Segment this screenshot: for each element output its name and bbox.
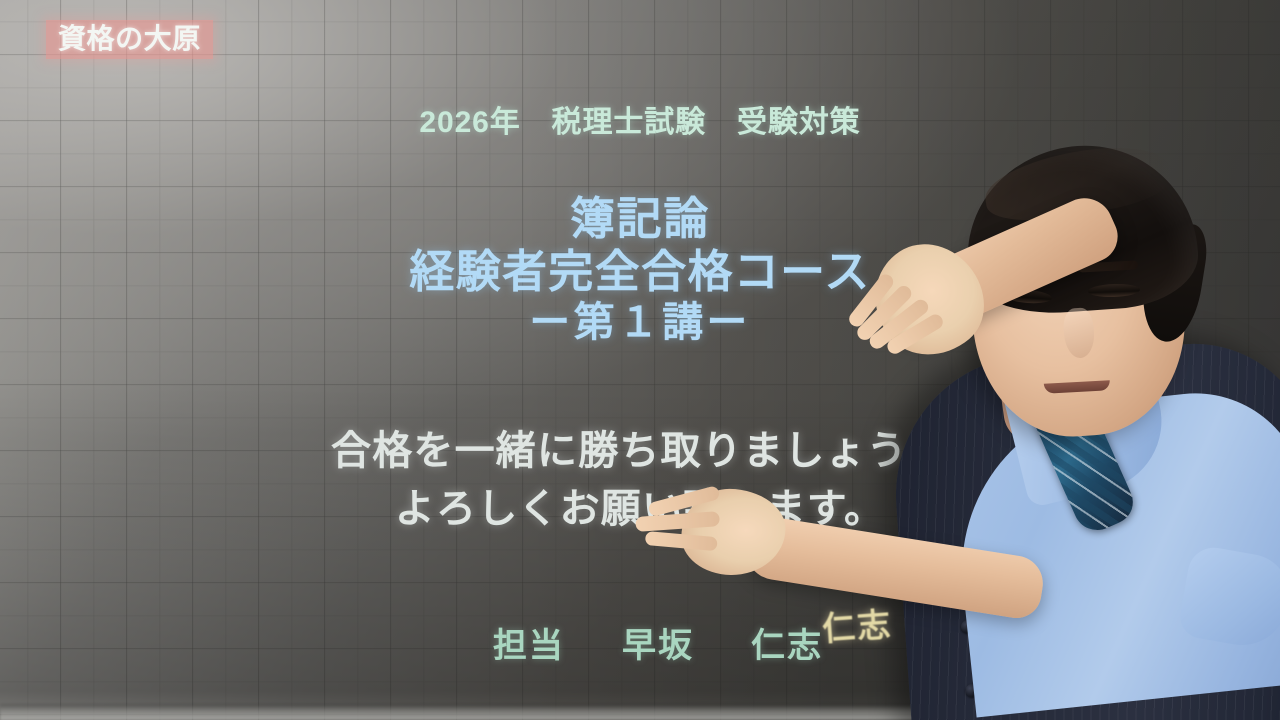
shirt-cuff-lower bbox=[1177, 544, 1280, 653]
credit-label: 担当 bbox=[493, 627, 565, 665]
credit-surname: 早坂 bbox=[622, 627, 694, 665]
oohara-logo: 資格の大原 bbox=[46, 20, 213, 59]
video-frame: 資格の大原 2026年 税理士試験 受験対策 簿記論 経験者完全合格コース ー第… bbox=[0, 0, 1280, 720]
presenter bbox=[860, 0, 1280, 720]
credit-givenname: 仁志 bbox=[751, 627, 823, 665]
presenter-hand-lower bbox=[681, 488, 786, 576]
